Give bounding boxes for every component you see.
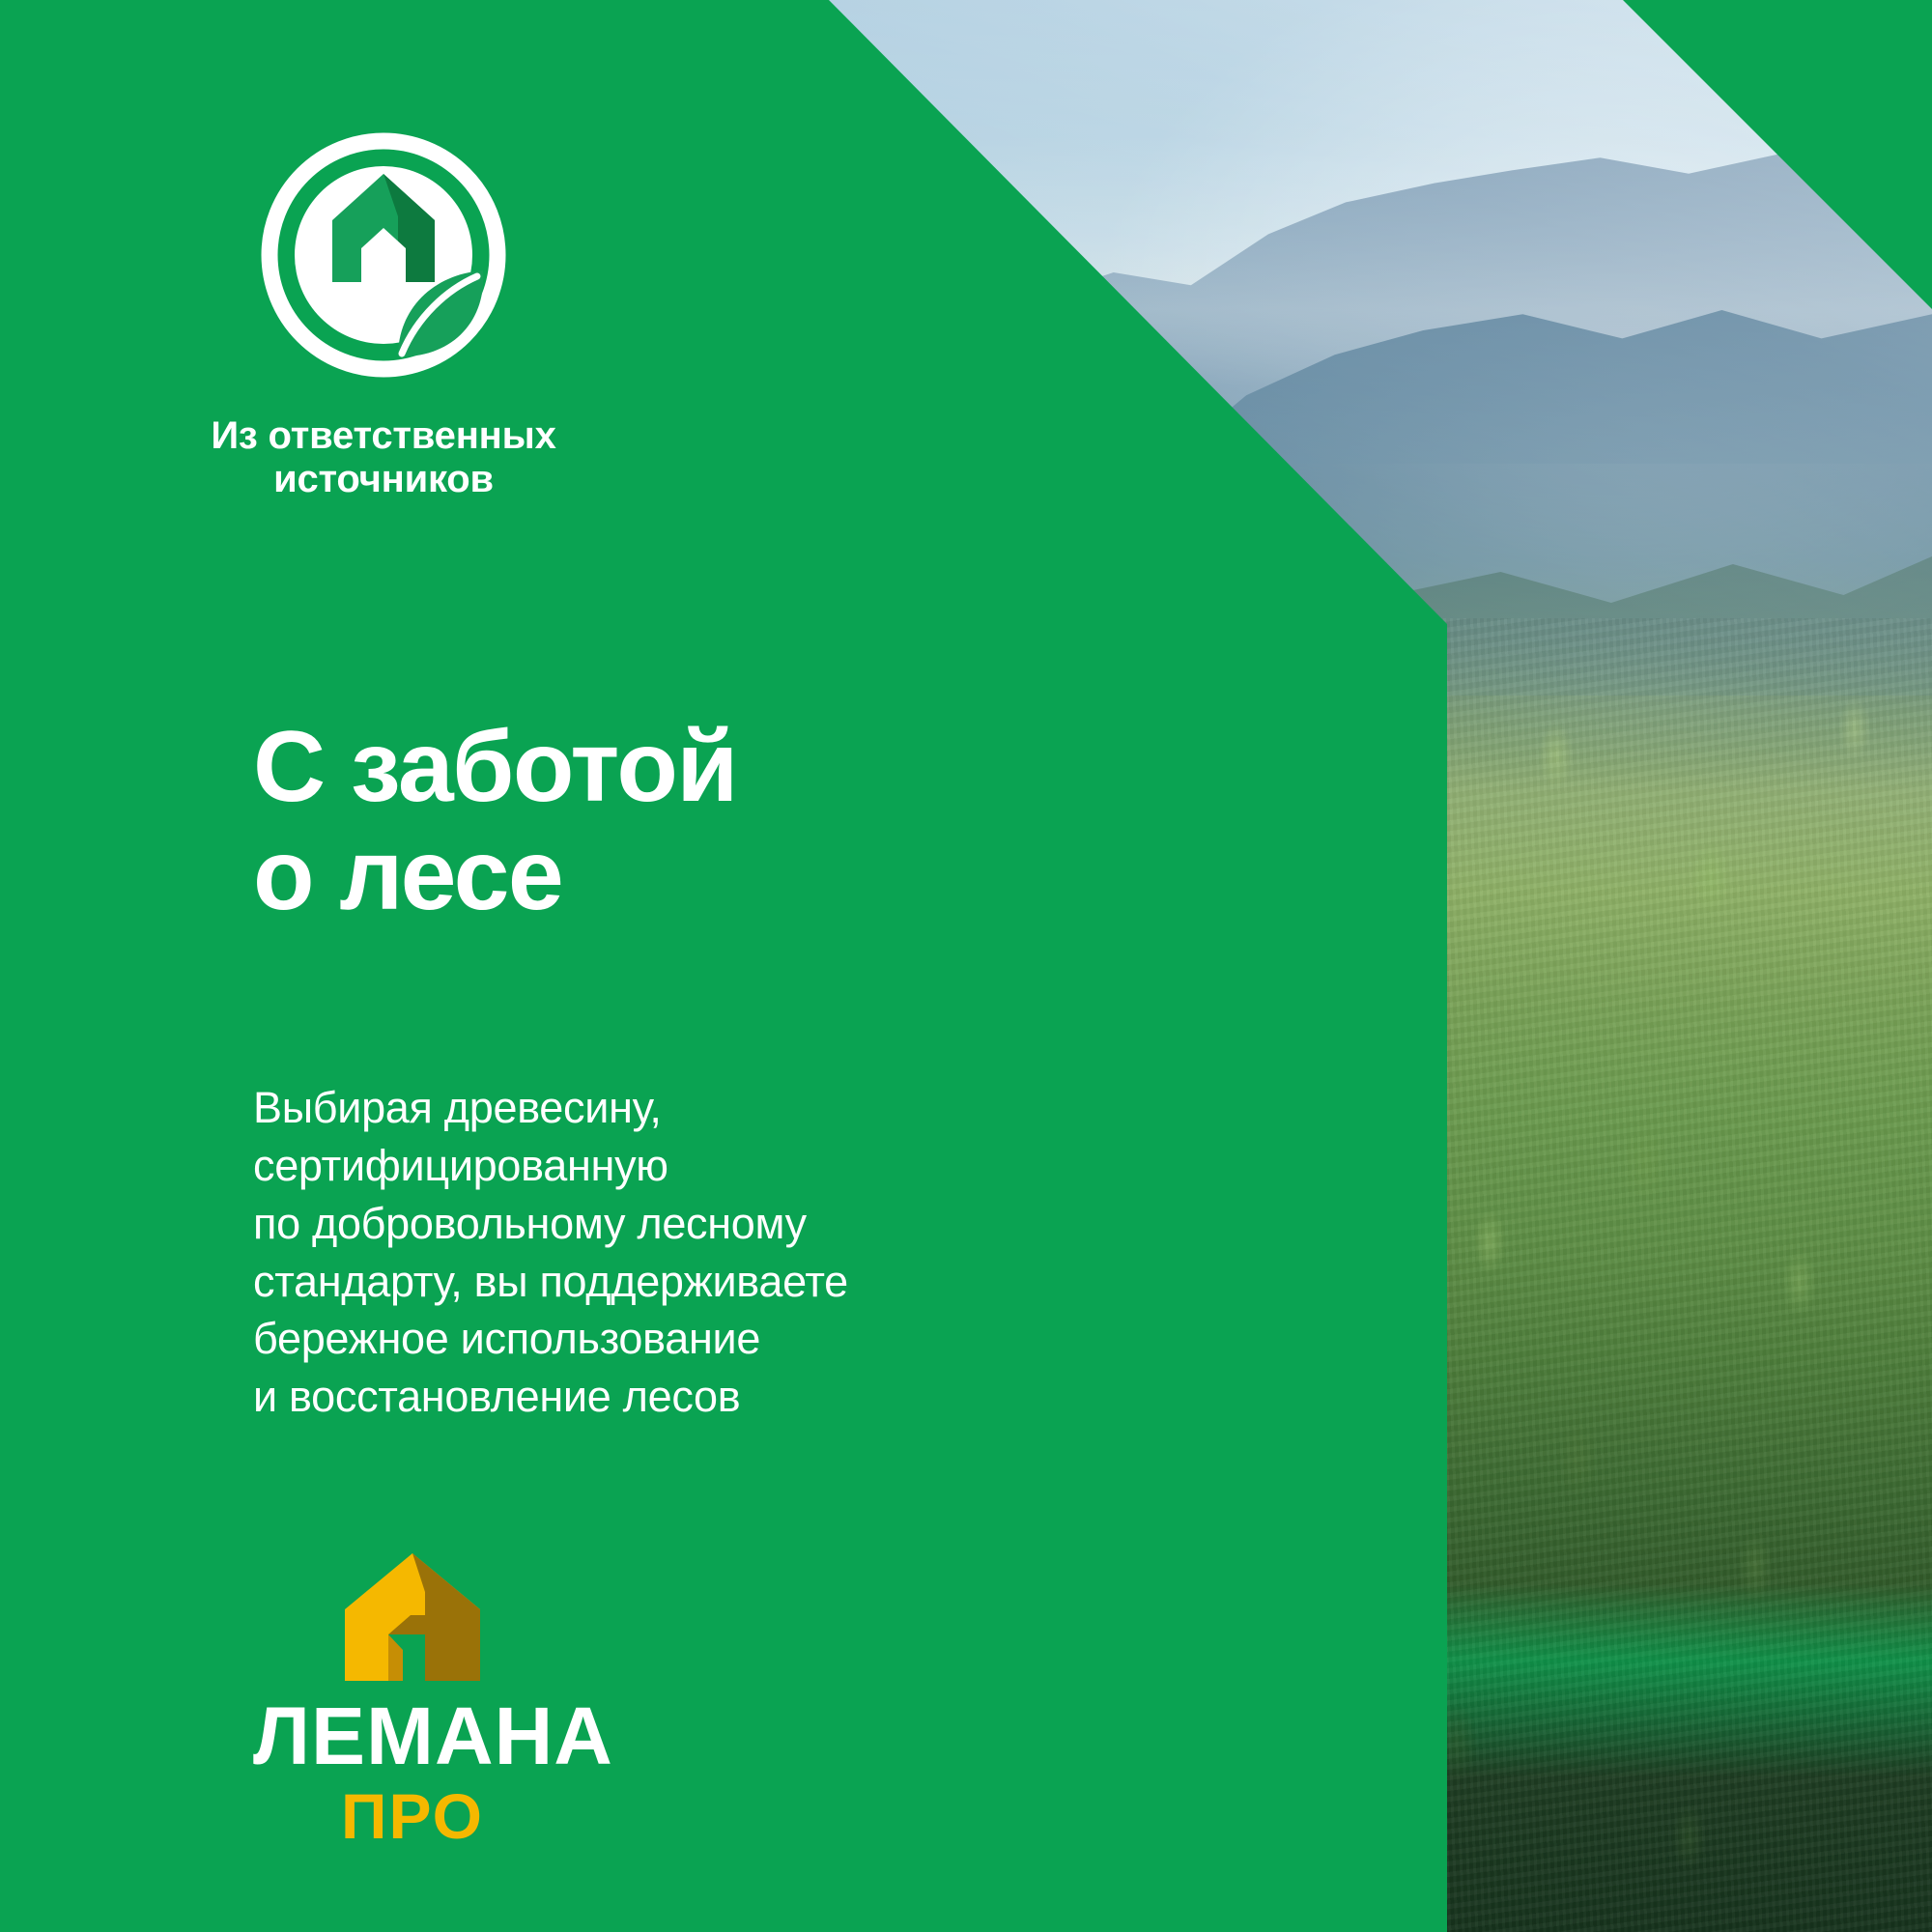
brand-logo: ЛЕМАНА ПРО — [253, 1549, 572, 1848]
house-roof-icon — [253, 1549, 572, 1685]
certification-caption: Из ответственных источников — [194, 414, 573, 501]
house-leaf-circle-icon — [253, 128, 514, 388]
brand-name: ЛЕМАНА — [253, 1695, 572, 1776]
brand-suffix: ПРО — [253, 1784, 572, 1848]
certification-badge: Из ответственных источников — [253, 128, 514, 501]
body-paragraph: Выбирая древесину, сертифицированную по … — [253, 1079, 848, 1426]
page-title: С заботой о лесе — [253, 713, 737, 930]
poster-content: Из ответственных источников С заботой о … — [0, 0, 1449, 1932]
poster-canvas: Из ответственных источников С заботой о … — [0, 0, 1932, 1932]
